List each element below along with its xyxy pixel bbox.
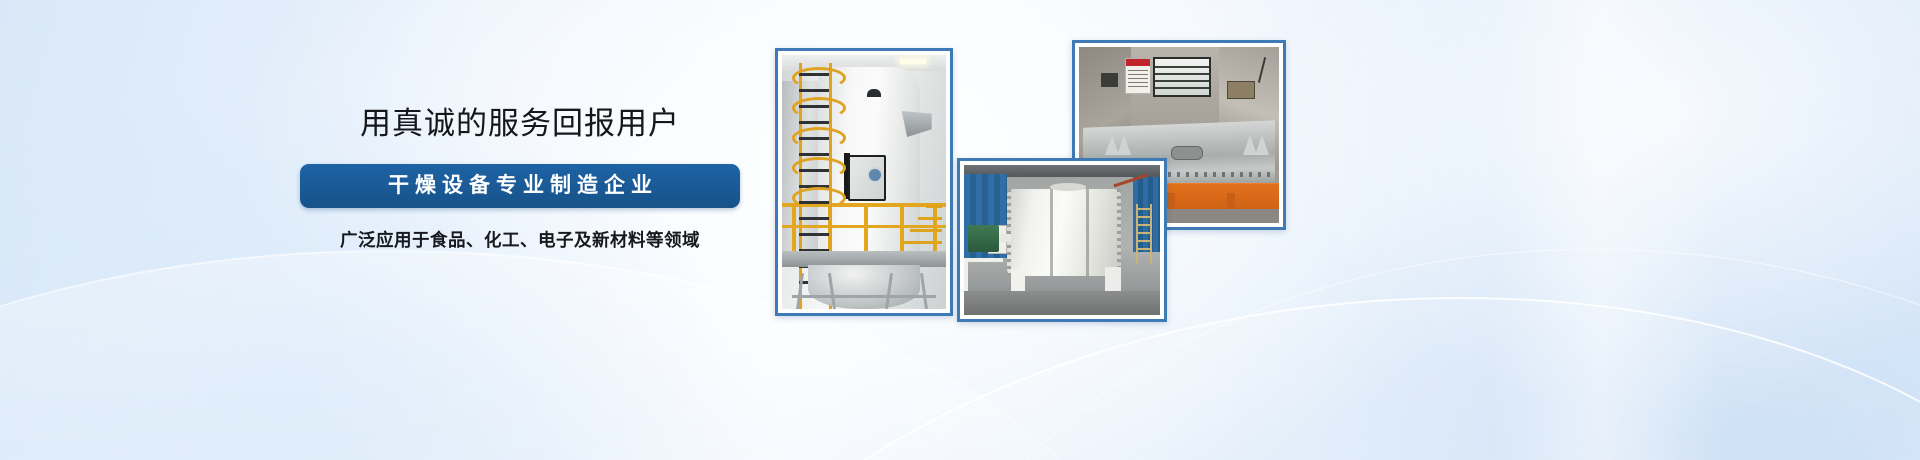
banner-badge-label: 干燥设备专业制造企业 xyxy=(300,164,740,208)
background-glow-top-right xyxy=(1280,0,1920,420)
decorative-sheen xyxy=(1490,0,1720,460)
photo-mat xyxy=(778,51,950,313)
banner-badge-button[interactable]: 干燥设备专业制造企业 xyxy=(300,164,740,208)
banner-headline: 用真诚的服务回报用户 xyxy=(290,104,750,144)
hero-banner: 用真诚的服务回报用户 干燥设备专业制造企业 广泛应用于食品、化工、电子及新材料等… xyxy=(0,0,1920,460)
photo-image-spray-dryer-tower xyxy=(782,55,946,309)
banner-subtitle: 广泛应用于食品、化工、电子及新材料等领域 xyxy=(290,227,750,253)
photo-mat xyxy=(960,161,1164,319)
photo-spray-dryer-tower[interactable] xyxy=(775,48,953,316)
photo-ribbon-mixer-tank[interactable] xyxy=(957,158,1167,322)
photo-image-ribbon-mixer-tank xyxy=(964,165,1160,315)
banner-text-block: 用真诚的服务回报用户 干燥设备专业制造企业 广泛应用于食品、化工、电子及新材料等… xyxy=(290,104,750,253)
photo-collage xyxy=(775,0,1295,460)
